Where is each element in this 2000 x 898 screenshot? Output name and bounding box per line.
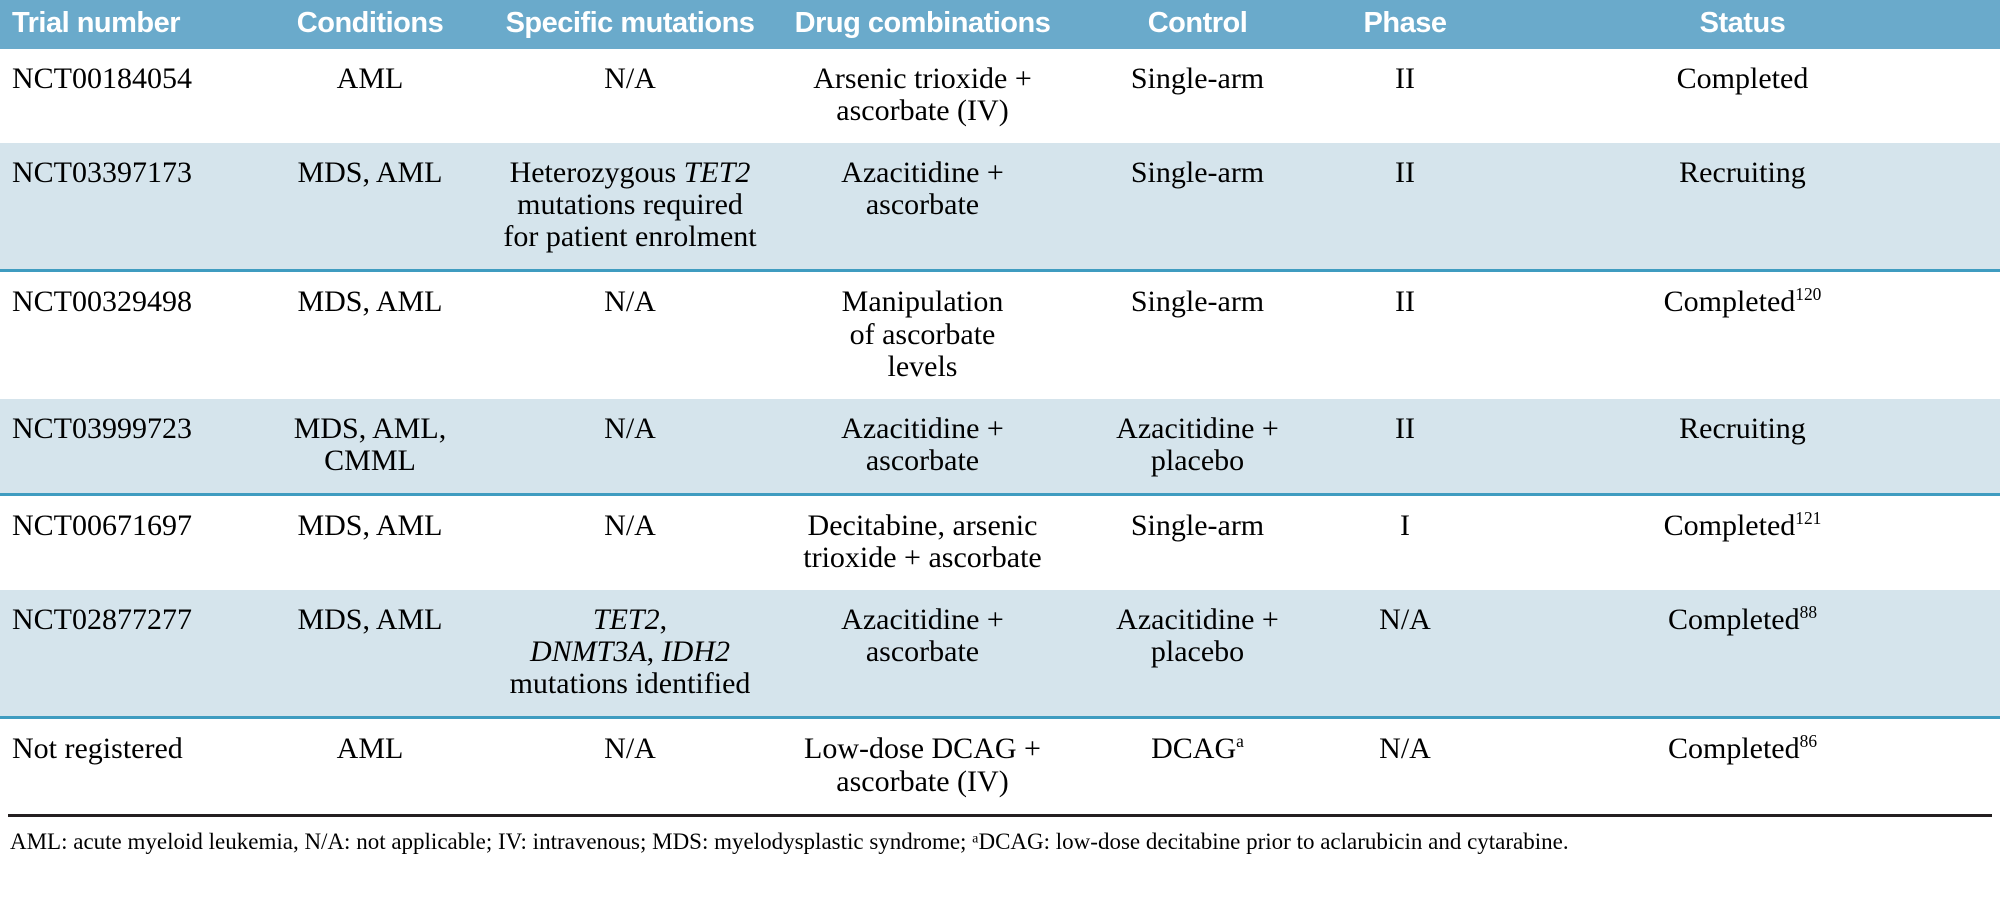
drug-line: Decitabine, arsenic [781,510,1064,542]
drug-line: ascorbate (IV) [781,95,1064,127]
cell-control: Azacitidine + placebo [1070,590,1325,718]
cell-trial-number: Not registered [0,718,255,814]
control-line: Single-arm [1076,510,1319,542]
cell-drug-combinations: Low-dose DCAG + ascorbate (IV) [775,718,1070,814]
status-text: Completed [1677,62,1809,95]
table-row: NCT03397173 MDS, AML Heterozygous TET2 m… [0,143,2000,271]
cell-status: Completed [1485,49,2000,143]
control-text: DCAG [1151,732,1236,765]
cell-phase: II [1325,49,1485,143]
control-line: Single-arm [1076,63,1319,95]
gene-separator: , [647,635,662,668]
cell-status: Completed120 [1485,271,2000,399]
column-header-trial-number: Trial number [0,0,255,49]
status-reference: 120 [1795,284,1821,304]
cell-phase: I [1325,494,1485,590]
table-header: Trial number Conditions Specific mutatio… [0,0,2000,49]
status-text: Completed [1668,732,1800,765]
cell-status: Recruiting [1485,143,2000,271]
control-line: Single-arm [1076,157,1319,189]
table-row: NCT03999723 MDS, AML, CMML N/A Azacitidi… [0,399,2000,495]
gene-name: IDH2 [662,635,730,668]
mutation-line: DNMT3A, IDH2 [491,636,769,668]
control-line: DCAGa [1076,733,1319,765]
cell-specific-mutations: N/A [485,494,775,590]
cell-trial-number: NCT03999723 [0,399,255,495]
mutation-prefix: Heterozygous [510,156,684,189]
cell-conditions: MDS, AML [255,271,485,399]
cell-trial-number: NCT00671697 [0,494,255,590]
cell-phase: N/A [1325,718,1485,814]
cell-trial-number: NCT00329498 [0,271,255,399]
column-header-conditions: Conditions [255,0,485,49]
cell-status: Completed121 [1485,494,2000,590]
cell-specific-mutations: N/A [485,399,775,495]
status-reference: 121 [1795,508,1821,528]
status-reference: 88 [1800,602,1817,622]
drug-line: Azacitidine + [781,157,1064,189]
column-header-status: Status [1485,0,2000,49]
status-reference: 86 [1800,731,1817,751]
drug-line: ascorbate [781,445,1064,477]
status-text: Completed [1664,509,1796,542]
gene-name: DNMT3A [530,635,647,668]
drug-line: Azacitidine + [781,604,1064,636]
status-text: Completed [1664,285,1796,318]
status-text: Recruiting [1679,412,1806,445]
cell-conditions: MDS, AML [255,590,485,718]
cell-control: Single-arm [1070,271,1325,399]
column-header-drug-combinations: Drug combinations [775,0,1070,49]
cell-drug-combinations: Decitabine, arsenic trioxide + ascorbate [775,494,1070,590]
control-line: placebo [1076,445,1319,477]
drug-line: Azacitidine + [781,413,1064,445]
control-line: Azacitidine + [1076,604,1319,636]
cell-conditions: MDS, AML [255,494,485,590]
table-footnote: AML: acute myeloid leukemia, N/A: not ap… [0,817,2000,861]
cell-specific-mutations: Heterozygous TET2 mutations required for… [485,143,775,271]
cell-drug-combinations: Azacitidine + ascorbate [775,143,1070,271]
cell-specific-mutations: N/A [485,49,775,143]
drug-line: Manipulation [781,286,1064,318]
table-row: Not registered AML N/A Low-dose DCAG + a… [0,718,2000,814]
cell-control: Azacitidine + placebo [1070,399,1325,495]
cell-control: Single-arm [1070,494,1325,590]
cell-drug-combinations: Azacitidine + ascorbate [775,590,1070,718]
cell-conditions: MDS, AML, CMML [255,399,485,495]
cell-phase: II [1325,271,1485,399]
mutation-line: for patient enrolment [491,221,769,253]
control-line: Single-arm [1076,286,1319,318]
cell-phase: II [1325,143,1485,271]
cell-trial-number: NCT03397173 [0,143,255,271]
cell-control: Single-arm [1070,143,1325,271]
drug-line: ascorbate [781,636,1064,668]
control-reference: a [1236,731,1244,751]
cell-drug-combinations: Manipulation of ascorbate levels [775,271,1070,399]
gene-name: TET2 [593,603,660,636]
cell-drug-combinations: Azacitidine + ascorbate [775,399,1070,495]
cell-status: Recruiting [1485,399,2000,495]
gene-name: TET2 [684,156,751,189]
column-header-phase: Phase [1325,0,1485,49]
table-row: NCT00329498 MDS, AML N/A Manipulation of… [0,271,2000,399]
cell-conditions: MDS, AML [255,143,485,271]
drug-line: ascorbate [781,189,1064,221]
table-body: NCT00184054 AML N/A Arsenic trioxide + a… [0,49,2000,814]
drug-line: trioxide + ascorbate [781,542,1064,574]
cell-trial-number: NCT00184054 [0,49,255,143]
cell-specific-mutations: N/A [485,718,775,814]
control-line: placebo [1076,636,1319,668]
cell-phase: II [1325,399,1485,495]
header-row: Trial number Conditions Specific mutatio… [0,0,2000,49]
cell-specific-mutations: TET2, DNMT3A, IDH2 mutations identified [485,590,775,718]
cell-status: Completed88 [1485,590,2000,718]
column-header-control: Control [1070,0,1325,49]
clinical-trials-table-container: Trial number Conditions Specific mutatio… [0,0,2000,861]
table-row: NCT02877277 MDS, AML TET2, DNMT3A, IDH2 … [0,590,2000,718]
cell-control: DCAGa [1070,718,1325,814]
gene-separator: , [660,603,668,636]
mutation-line: mutations identified [491,668,769,700]
control-line: Azacitidine + [1076,413,1319,445]
cell-status: Completed86 [1485,718,2000,814]
drug-line: of ascorbate [781,319,1064,351]
drug-line: levels [781,351,1064,383]
clinical-trials-table: Trial number Conditions Specific mutatio… [0,0,2000,814]
table-row: NCT00184054 AML N/A Arsenic trioxide + a… [0,49,2000,143]
mutation-line: mutations required [491,189,769,221]
cell-trial-number: NCT02877277 [0,590,255,718]
status-text: Recruiting [1679,156,1806,189]
status-text: Completed [1668,603,1800,636]
column-header-specific-mutations: Specific mutations [485,0,775,49]
table-row: NCT00671697 MDS, AML N/A Decitabine, ars… [0,494,2000,590]
cell-specific-mutations: N/A [485,271,775,399]
cell-conditions: AML [255,49,485,143]
drug-line: Low-dose DCAG + [781,733,1064,765]
cell-control: Single-arm [1070,49,1325,143]
cell-drug-combinations: Arsenic trioxide + ascorbate (IV) [775,49,1070,143]
drug-line: Arsenic trioxide + [781,63,1064,95]
cell-conditions: AML [255,718,485,814]
drug-line: ascorbate (IV) [781,766,1064,798]
cell-phase: N/A [1325,590,1485,718]
mutation-line: Heterozygous TET2 [491,157,769,189]
mutation-line: TET2, [491,604,769,636]
